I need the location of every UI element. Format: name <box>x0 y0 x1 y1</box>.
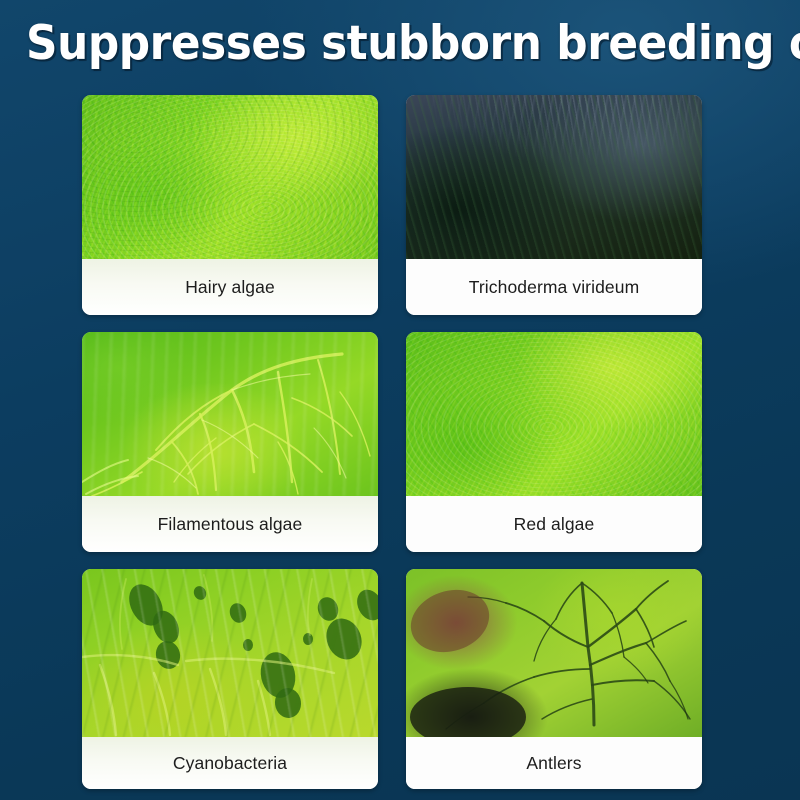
algae-photo-hairy-algae <box>82 95 378 259</box>
photo-blur-texture <box>82 332 378 496</box>
algae-card-filamentous-algae[interactable]: Filamentous algae <box>82 332 378 552</box>
algae-photo-filamentous-algae <box>82 332 378 496</box>
algae-photo-cyanobacteria <box>82 569 378 737</box>
algae-photo-trichoderma-virideum <box>406 95 702 259</box>
algae-card-label: Filamentous algae <box>82 496 378 552</box>
algae-card-label: Hairy algae <box>82 259 378 315</box>
photo-wisp-texture <box>406 95 702 259</box>
algae-card-label: Cyanobacteria <box>82 737 378 789</box>
promo-page: Suppresses stubborn breeding of algae Ha… <box>0 0 800 800</box>
photo-blur-texture <box>406 569 702 737</box>
page-title: Suppresses stubborn breeding of algae <box>26 19 800 69</box>
title-bar: Suppresses stubborn breeding of algae <box>0 0 800 92</box>
photo-swirl-texture <box>82 95 378 259</box>
algae-card-grid: Hairy algae Trichoderma virideum <box>82 95 702 789</box>
photo-streak-texture <box>82 569 378 737</box>
algae-card-red-algae[interactable]: Red algae <box>406 332 702 552</box>
algae-card-cyanobacteria[interactable]: Cyanobacteria <box>82 569 378 789</box>
algae-photo-antlers <box>406 569 702 737</box>
algae-photo-red-algae <box>406 332 702 496</box>
algae-card-antlers[interactable]: Antlers <box>406 569 702 789</box>
algae-card-label: Red algae <box>406 496 702 552</box>
algae-card-trichoderma-virideum[interactable]: Trichoderma virideum <box>406 95 702 315</box>
algae-card-hairy-algae[interactable]: Hairy algae <box>82 95 378 315</box>
algae-card-label: Trichoderma virideum <box>406 259 702 315</box>
photo-swirl-texture <box>406 332 702 496</box>
algae-card-label: Antlers <box>406 737 702 789</box>
